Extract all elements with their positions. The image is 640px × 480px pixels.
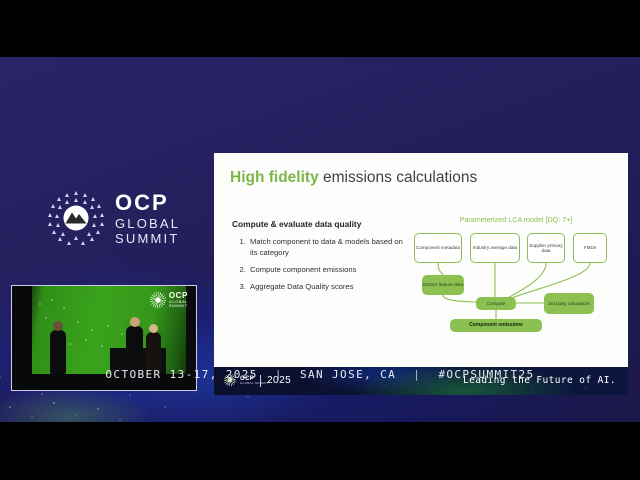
slide-section-heading: Compute & evaluate data quality	[232, 219, 407, 229]
diagram-node-third-party-calculators: 3rd party calculators	[544, 293, 594, 314]
list-item: Compute component emissions	[248, 264, 407, 275]
diagram-node-extract-feature-data: Extract feature data	[422, 275, 464, 295]
logo-global-text: GLOBAL	[115, 217, 180, 230]
diagram-node-industry-average-data: Industry average data	[470, 233, 520, 263]
slide-step-list: Match component to data & models based o…	[232, 236, 407, 292]
ocp-starburst-mountain-icon	[47, 189, 105, 247]
event-dates: OCTOBER 13-17, 2025	[105, 368, 257, 381]
slide-title: High fidelity emissions calculations	[230, 169, 477, 187]
slide-left-column: Compute & evaluate data quality Match co…	[232, 219, 407, 298]
slide-title-highlight: High fidelity	[230, 169, 319, 186]
letterbox-top	[0, 0, 640, 57]
speaker-second	[126, 326, 143, 374]
event-separator-1: |	[275, 368, 283, 381]
presentation-slide: High fidelity emissions calculations Com…	[214, 153, 628, 395]
list-item: Aggregate Data Quality scores	[248, 281, 407, 292]
stage-logo-line3: SUMMIT	[169, 304, 188, 308]
event-hashtag: #OCPSUMMIT25	[438, 368, 534, 381]
logo-summit-text: SUMMIT	[115, 232, 180, 245]
letterbox-bottom	[0, 422, 640, 480]
diagram-node-compute: Compute	[476, 297, 516, 310]
diagram-node-fmds: FMDs	[573, 233, 607, 263]
event-separator-2: |	[413, 368, 421, 381]
stage-logo-starburst-icon	[150, 292, 166, 308]
event-location: SAN JOSE, CA	[300, 368, 396, 381]
logo-ocp-text: OCP	[115, 192, 180, 214]
lca-model-diagram: Parameterized LCA model [DQ: 7+] Compone…	[410, 215, 622, 335]
stage-screen-ocp-logo: OCP GLOBAL SUMMIT	[150, 292, 188, 308]
video-player-frame: OCP GLOBAL SUMMIT OCP GLOBAL SUMMIT	[0, 0, 640, 480]
diagram-node-supplier-primary-data: Supplier primary data	[527, 233, 565, 263]
diagram-node-component-emissions: Component emissions	[450, 319, 542, 332]
footer-logo-subtitle: GLOBAL SUMMIT	[240, 382, 268, 385]
slide-title-rest: emissions calculations	[319, 169, 478, 186]
presentation-background: OCP GLOBAL SUMMIT OCP GLOBAL SUMMIT	[0, 57, 640, 422]
diagram-node-component-metadata: Component metadata	[414, 233, 462, 263]
list-item: Match component to data & models based o…	[248, 236, 407, 258]
ocp-global-summit-logo: OCP GLOBAL SUMMIT	[47, 185, 187, 251]
event-info-line: OCTOBER 13-17, 2025 | SAN JOSE, CA | #OC…	[0, 368, 640, 381]
